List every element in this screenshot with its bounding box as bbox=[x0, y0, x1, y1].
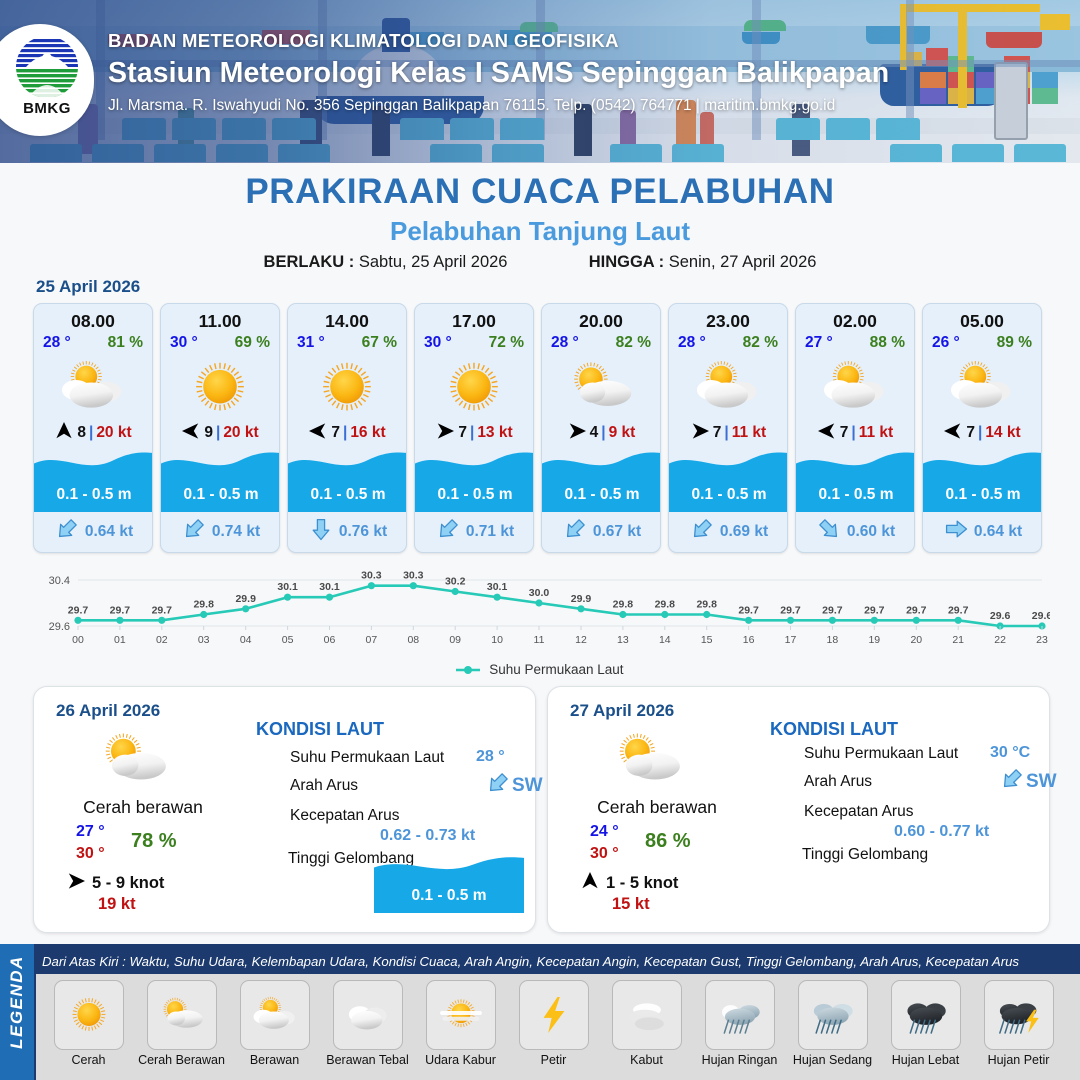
card-wind-speed: 7 bbox=[331, 424, 340, 442]
card-wave-graphic: 0.1 - 0.5 m bbox=[288, 450, 407, 512]
sea-conditions-title: KONDISI LAUT bbox=[770, 719, 898, 740]
legend-item-label: Kabut bbox=[630, 1054, 663, 1068]
svg-text:22: 22 bbox=[994, 634, 1006, 646]
card-current: 0.74 kt bbox=[161, 517, 280, 546]
card-time: 08.00 bbox=[34, 311, 152, 332]
svg-text:29.7: 29.7 bbox=[906, 604, 927, 616]
station-name: Stasiun Meteorologi Kelas I SAMS Sepingg… bbox=[108, 57, 889, 90]
wave-label: Tinggi Gelombang bbox=[802, 846, 928, 864]
card-gust: 11 kt bbox=[859, 424, 893, 442]
svg-text:29.7: 29.7 bbox=[864, 604, 885, 616]
day-date: 27 April 2026 bbox=[570, 701, 674, 721]
sun-cloud-icon bbox=[147, 980, 217, 1050]
sun-cloud-icon bbox=[86, 729, 182, 791]
current-dir-label: Arah Arus bbox=[290, 777, 358, 795]
validity-row: BERLAKU : Sabtu, 25 April 2026 HINGGA : … bbox=[0, 253, 1080, 272]
svg-text:04: 04 bbox=[240, 634, 252, 646]
day-wind-range: 1 - 5 knot bbox=[606, 874, 678, 893]
card-humidity: 67 % bbox=[362, 334, 397, 352]
legend-item-label: Hujan Petir bbox=[988, 1054, 1050, 1068]
svg-text:05: 05 bbox=[282, 634, 294, 646]
card-time: 17.00 bbox=[415, 311, 533, 332]
card-wave-graphic: 0.1 - 0.5 m bbox=[796, 450, 915, 512]
current-speed-value: 0.62 - 0.73 kt bbox=[380, 827, 475, 845]
legend-item: Berawan bbox=[228, 980, 321, 1080]
current-direction-arrow-icon bbox=[309, 517, 333, 546]
card-wind: 4 | 9 kt bbox=[542, 420, 660, 446]
card-temperature: 27 ° bbox=[805, 334, 833, 352]
moderate-rain-icon bbox=[798, 980, 868, 1050]
valid-until-label: HINGGA : bbox=[589, 253, 664, 271]
legend-item-label: Berawan Tebal bbox=[326, 1054, 408, 1068]
card-wind-separator: | bbox=[724, 424, 728, 442]
valid-from-label: BERLAKU : bbox=[264, 253, 355, 271]
legend-item: Hujan Petir bbox=[972, 980, 1065, 1080]
current-direction-arrow-icon bbox=[944, 517, 968, 546]
card-wind-speed: 7 bbox=[966, 424, 975, 442]
legend-item-label: Berawan bbox=[250, 1054, 299, 1068]
card-wind-speed: 7 bbox=[840, 424, 849, 442]
svg-text:17: 17 bbox=[785, 634, 797, 646]
current-dir-value: SW bbox=[1026, 771, 1057, 793]
svg-text:06: 06 bbox=[324, 634, 336, 646]
card-wind-speed: 4 bbox=[590, 424, 599, 442]
card-current: 0.64 kt bbox=[34, 517, 153, 546]
card-wind-speed: 7 bbox=[713, 424, 722, 442]
day-humidity: 86 % bbox=[645, 830, 691, 853]
valid-until-value: Senin, 27 April 2026 bbox=[669, 253, 817, 271]
svg-text:29.9: 29.9 bbox=[235, 593, 256, 605]
svg-text:23: 23 bbox=[1036, 634, 1048, 646]
card-time: 14.00 bbox=[288, 311, 406, 332]
current-direction-arrow-icon bbox=[486, 771, 510, 800]
sea-conditions-title: KONDISI LAUT bbox=[256, 719, 384, 740]
card-humidity: 82 % bbox=[743, 334, 778, 352]
sunny-icon bbox=[161, 354, 279, 420]
card-wind: 7 | 13 kt bbox=[415, 420, 533, 446]
heavy-rain-icon bbox=[891, 980, 961, 1050]
hourly-card: 05.00 26 ° 89 % 7 | 14 kt 0.1 - 0.5 m bbox=[922, 303, 1042, 553]
card-current-speed: 0.71 kt bbox=[466, 523, 514, 541]
card-wave-height: 0.1 - 0.5 m bbox=[796, 486, 915, 504]
sst-chart: 30.4 29.6 29.729.729.729.829.930.130.130… bbox=[30, 558, 1050, 648]
card-gust: 14 kt bbox=[985, 424, 1020, 442]
legend-sidebar: LEGENDA bbox=[0, 944, 34, 1080]
day-gust: 15 kt bbox=[612, 895, 650, 914]
card-wave-height: 0.1 - 0.5 m bbox=[542, 486, 661, 504]
card-gust: 13 kt bbox=[477, 424, 512, 442]
legend-item-label: Hujan Sedang bbox=[793, 1054, 872, 1068]
light-rain-icon bbox=[705, 980, 775, 1050]
legend-section: LEGENDA Dari Atas Kiri : Waktu, Suhu Uda… bbox=[0, 944, 1080, 1080]
svg-text:29.7: 29.7 bbox=[738, 604, 759, 616]
hourly-card: 20.00 28 ° 82 % 4 | 9 kt 0.1 - 0.5 m bbox=[541, 303, 661, 553]
svg-text:30.1: 30.1 bbox=[277, 581, 298, 593]
svg-text:30.4: 30.4 bbox=[49, 575, 70, 587]
svg-text:21: 21 bbox=[952, 634, 964, 646]
card-humidity: 81 % bbox=[108, 334, 143, 352]
day-panel-27: 27 April 2026 Cerah berawan 24 ° 30 ° 86… bbox=[547, 686, 1050, 933]
card-time: 23.00 bbox=[669, 311, 787, 332]
svg-text:29.7: 29.7 bbox=[780, 604, 801, 616]
hourly-date-label: 25 April 2026 bbox=[36, 277, 140, 297]
card-wave-graphic: 0.1 - 0.5 m bbox=[669, 450, 788, 512]
card-current: 0.67 kt bbox=[542, 517, 661, 546]
sst-line-chart: 30.4 29.6 29.729.729.729.829.930.130.130… bbox=[30, 558, 1050, 648]
svg-text:08: 08 bbox=[407, 634, 419, 646]
card-temp-humidity: 27 ° 88 % bbox=[796, 332, 914, 352]
card-gust: 20 kt bbox=[96, 424, 131, 442]
sst-label: Suhu Permukaan Laut bbox=[290, 749, 444, 767]
current-speed-label: Kecepatan Arus bbox=[804, 803, 913, 821]
svg-text:10: 10 bbox=[491, 634, 503, 646]
legend-item: Hujan Lebat bbox=[879, 980, 972, 1080]
card-temp-humidity: 28 ° 82 % bbox=[542, 332, 660, 352]
legend-item: Kabut bbox=[600, 980, 693, 1080]
card-time: 05.00 bbox=[923, 311, 1041, 332]
svg-text:09: 09 bbox=[449, 634, 461, 646]
sun-cloud-icon bbox=[542, 354, 660, 420]
card-wind-separator: | bbox=[978, 424, 982, 442]
day-condition: Cerah berawan bbox=[48, 797, 238, 818]
svg-text:12: 12 bbox=[575, 634, 587, 646]
card-current-speed: 0.69 kt bbox=[720, 523, 768, 541]
legend-item-label: Cerah bbox=[71, 1054, 105, 1068]
svg-text:13: 13 bbox=[617, 634, 629, 646]
svg-text:01: 01 bbox=[114, 634, 126, 646]
current-direction-arrow-icon bbox=[817, 517, 841, 546]
card-wind: 7 | 14 kt bbox=[923, 420, 1041, 446]
svg-text:15: 15 bbox=[701, 634, 713, 646]
wind-direction-arrow-icon bbox=[308, 421, 328, 446]
card-wind-separator: | bbox=[601, 424, 605, 442]
sst-label: Suhu Permukaan Laut bbox=[804, 745, 958, 763]
card-temperature: 30 ° bbox=[170, 334, 198, 352]
legend-item: Berawan Tebal bbox=[321, 980, 414, 1080]
hourly-card: 02.00 27 ° 88 % 7 | 11 kt 0.1 - 0.5 m bbox=[795, 303, 915, 553]
card-temperature: 30 ° bbox=[424, 334, 452, 352]
svg-text:29.6: 29.6 bbox=[990, 610, 1011, 622]
page-subtitle: Pelabuhan Tanjung Laut bbox=[0, 216, 1080, 247]
svg-text:18: 18 bbox=[827, 634, 839, 646]
sunny-icon bbox=[288, 354, 406, 420]
wind-direction-arrow-icon bbox=[66, 871, 86, 896]
day-wind-range: 5 - 9 knot bbox=[92, 874, 164, 893]
legend-item-label: Hujan Lebat bbox=[892, 1054, 959, 1068]
legend-item-label: Udara Kabur bbox=[425, 1054, 496, 1068]
card-current: 0.76 kt bbox=[288, 517, 407, 546]
current-dir-label: Arah Arus bbox=[804, 773, 872, 791]
svg-text:30.3: 30.3 bbox=[361, 570, 382, 582]
svg-text:03: 03 bbox=[198, 634, 210, 646]
sst-value: 28 ° bbox=[476, 748, 505, 766]
card-wind-separator: | bbox=[343, 424, 347, 442]
card-humidity: 69 % bbox=[235, 334, 270, 352]
hourly-forecast-row: 08.00 28 ° 81 % 8 | 20 kt 0.1 - 0.5 m bbox=[33, 303, 1047, 553]
partly-cloudy-icon bbox=[34, 354, 152, 420]
card-current-speed: 0.74 kt bbox=[212, 523, 260, 541]
hourly-card: 14.00 31 ° 67 % 7 | 16 kt 0.1 - 0.5 m bbox=[287, 303, 407, 553]
svg-text:16: 16 bbox=[743, 634, 755, 646]
current-direction-arrow-icon bbox=[55, 517, 79, 546]
card-humidity: 82 % bbox=[616, 334, 651, 352]
sunny-icon bbox=[415, 354, 533, 420]
header-text-block: BADAN METEOROLOGI KLIMATOLOGI DAN GEOFIS… bbox=[108, 30, 889, 115]
card-humidity: 72 % bbox=[489, 334, 524, 352]
svg-text:29.8: 29.8 bbox=[193, 599, 214, 611]
svg-text:29.7: 29.7 bbox=[68, 604, 89, 616]
lightning-icon bbox=[519, 980, 589, 1050]
card-wave-height: 0.1 - 0.5 m bbox=[415, 486, 534, 504]
partly-cloudy-icon bbox=[240, 980, 310, 1050]
card-wave-graphic: 0.1 - 0.5 m bbox=[415, 450, 534, 512]
card-current-speed: 0.76 kt bbox=[339, 523, 387, 541]
card-wind-speed: 8 bbox=[77, 424, 86, 442]
day-temp-low: 27 ° bbox=[76, 823, 105, 841]
card-wave-height: 0.1 - 0.5 m bbox=[923, 486, 1042, 504]
day-temp-high: 30 ° bbox=[76, 845, 105, 863]
card-wind-speed: 7 bbox=[458, 424, 467, 442]
svg-text:29.9: 29.9 bbox=[571, 593, 592, 605]
day-humidity: 78 % bbox=[131, 830, 177, 853]
card-temp-humidity: 26 ° 89 % bbox=[923, 332, 1041, 352]
svg-text:02: 02 bbox=[156, 634, 168, 646]
station-address: Jl. Marsma. R. Iswahyudi No. 356 Sepingg… bbox=[108, 97, 889, 115]
svg-text:29.8: 29.8 bbox=[613, 599, 634, 611]
card-wave-graphic: 0.1 - 0.5 m bbox=[34, 450, 153, 512]
card-humidity: 88 % bbox=[870, 334, 905, 352]
haze-icon bbox=[426, 980, 496, 1050]
chart-legend-label: Suhu Permukaan Laut bbox=[489, 662, 623, 677]
card-wind-separator: | bbox=[89, 424, 93, 442]
legend-item: Cerah Berawan bbox=[135, 980, 228, 1080]
svg-text:19: 19 bbox=[868, 634, 880, 646]
card-temperature: 26 ° bbox=[932, 334, 960, 352]
card-temperature: 28 ° bbox=[43, 334, 71, 352]
svg-text:00: 00 bbox=[72, 634, 84, 646]
fog-icon bbox=[612, 980, 682, 1050]
card-wave-graphic: 0.1 - 0.5 m bbox=[923, 450, 1042, 512]
day-date: 26 April 2026 bbox=[56, 701, 160, 721]
card-current: 0.60 kt bbox=[796, 517, 915, 546]
page-title: PRAKIRAAN CUACA PELABUHAN bbox=[0, 172, 1080, 212]
chart-legend-marker bbox=[456, 663, 480, 678]
svg-text:11: 11 bbox=[534, 634, 545, 646]
card-current-speed: 0.64 kt bbox=[85, 523, 133, 541]
partly-cloudy-icon bbox=[669, 354, 787, 420]
card-current-speed: 0.60 kt bbox=[847, 523, 895, 541]
svg-text:29.7: 29.7 bbox=[110, 604, 131, 616]
card-current: 0.71 kt bbox=[415, 517, 534, 546]
card-wind-speed: 9 bbox=[204, 424, 213, 442]
day-temp-low: 24 ° bbox=[590, 823, 619, 841]
card-time: 02.00 bbox=[796, 311, 914, 332]
card-gust: 16 kt bbox=[350, 424, 385, 442]
card-time: 11.00 bbox=[161, 311, 279, 332]
wind-direction-arrow-icon bbox=[690, 421, 710, 446]
page-header: BMKG BADAN METEOROLOGI KLIMATOLOGI DAN G… bbox=[0, 0, 1080, 163]
card-time: 20.00 bbox=[542, 311, 660, 332]
card-humidity: 89 % bbox=[997, 334, 1032, 352]
card-temperature: 28 ° bbox=[678, 334, 706, 352]
legend-item: Hujan Ringan bbox=[693, 980, 786, 1080]
day-temp-high: 30 ° bbox=[590, 845, 619, 863]
legend-item: Udara Kabur bbox=[414, 980, 507, 1080]
sunny-icon bbox=[54, 980, 124, 1050]
day-panel-26: 26 April 2026 Cerah berawan 27 ° 30 ° 78… bbox=[33, 686, 536, 933]
day-gust: 19 kt bbox=[98, 895, 136, 914]
card-wind-separator: | bbox=[470, 424, 474, 442]
card-temp-humidity: 30 ° 72 % bbox=[415, 332, 533, 352]
wind-direction-arrow-icon bbox=[435, 421, 455, 446]
card-temp-humidity: 30 ° 69 % bbox=[161, 332, 279, 352]
org-name: BADAN METEOROLOGI KLIMATOLOGI DAN GEOFIS… bbox=[108, 30, 889, 52]
wind-direction-arrow-icon bbox=[54, 421, 74, 446]
card-wave-height: 0.1 - 0.5 m bbox=[161, 486, 280, 504]
legend-item-label: Hujan Ringan bbox=[702, 1054, 778, 1068]
current-direction-arrow-icon bbox=[690, 517, 714, 546]
svg-text:30.3: 30.3 bbox=[403, 570, 424, 582]
hourly-card: 23.00 28 ° 82 % 7 | 11 kt 0.1 - 0.5 m bbox=[668, 303, 788, 553]
day-condition: Cerah berawan bbox=[562, 797, 752, 818]
legend-items-strip: Cerah Cerah Berawan Berawan bbox=[36, 974, 1080, 1080]
svg-text:29.6: 29.6 bbox=[1032, 610, 1050, 622]
card-current: 0.69 kt bbox=[669, 517, 788, 546]
current-direction-arrow-icon bbox=[436, 517, 460, 546]
card-gust: 9 kt bbox=[609, 424, 636, 442]
svg-text:29.8: 29.8 bbox=[696, 599, 717, 611]
card-temp-humidity: 28 ° 82 % bbox=[669, 332, 787, 352]
card-wind: 7 | 16 kt bbox=[288, 420, 406, 446]
card-temp-humidity: 31 ° 67 % bbox=[288, 332, 406, 352]
svg-text:14: 14 bbox=[659, 634, 671, 646]
bmkg-logo-icon bbox=[14, 34, 80, 100]
current-direction-arrow-icon bbox=[1000, 767, 1024, 796]
card-wave-height: 0.1 - 0.5 m bbox=[669, 486, 788, 504]
card-current-speed: 0.67 kt bbox=[593, 523, 641, 541]
card-gust: 11 kt bbox=[732, 424, 766, 442]
svg-text:30.2: 30.2 bbox=[445, 576, 466, 588]
wind-direction-arrow-icon bbox=[580, 871, 600, 896]
chart-legend: Suhu Permukaan Laut bbox=[0, 662, 1080, 678]
card-temperature: 31 ° bbox=[297, 334, 325, 352]
svg-text:30.1: 30.1 bbox=[487, 581, 508, 593]
hourly-card: 17.00 30 ° 72 % 7 | 13 kt 0.1 - 0.5 m bbox=[414, 303, 534, 553]
legend-item: Hujan Sedang bbox=[786, 980, 879, 1080]
wind-direction-arrow-icon bbox=[943, 421, 963, 446]
day-wind: 1 - 5 knot bbox=[580, 871, 678, 896]
svg-text:29.7: 29.7 bbox=[822, 604, 843, 616]
current-direction-arrow-icon bbox=[563, 517, 587, 546]
card-wind: 7 | 11 kt bbox=[669, 420, 787, 446]
svg-text:29.7: 29.7 bbox=[948, 604, 969, 616]
card-wind: 8 | 20 kt bbox=[34, 420, 152, 446]
valid-from-value: Sabtu, 25 April 2026 bbox=[359, 253, 508, 271]
card-wind: 7 | 11 kt bbox=[796, 420, 914, 446]
legend-sidebar-label: LEGENDA bbox=[7, 952, 27, 1052]
svg-text:30.1: 30.1 bbox=[319, 581, 340, 593]
card-wave-graphic: 0.1 - 0.5 m bbox=[542, 450, 661, 512]
hourly-card: 08.00 28 ° 81 % 8 | 20 kt 0.1 - 0.5 m bbox=[33, 303, 153, 553]
current-speed-value: 0.60 - 0.77 kt bbox=[894, 823, 989, 841]
legend-item-label: Petir bbox=[541, 1054, 567, 1068]
card-wave-height: 0.1 - 0.5 m bbox=[288, 486, 407, 504]
cloudy-icon bbox=[333, 980, 403, 1050]
svg-text:20: 20 bbox=[910, 634, 922, 646]
legend-item: Cerah bbox=[42, 980, 135, 1080]
card-temp-humidity: 28 ° 81 % bbox=[34, 332, 152, 352]
svg-text:29.8: 29.8 bbox=[655, 599, 676, 611]
card-wave-height: 0.1 - 0.5 m bbox=[34, 486, 153, 504]
current-dir-value-group: SW bbox=[486, 771, 543, 800]
card-wind: 9 | 20 kt bbox=[161, 420, 279, 446]
card-current-speed: 0.64 kt bbox=[974, 523, 1022, 541]
day-wave-value: 0.1 - 0.5 m bbox=[374, 887, 524, 905]
partly-cloudy-icon bbox=[796, 354, 914, 420]
current-direction-arrow-icon bbox=[182, 517, 206, 546]
svg-text:07: 07 bbox=[366, 634, 378, 646]
thunderstorm-icon bbox=[984, 980, 1054, 1050]
current-speed-label: Kecepatan Arus bbox=[290, 807, 399, 825]
wind-direction-arrow-icon bbox=[181, 421, 201, 446]
sst-value: 30 °C bbox=[990, 744, 1030, 762]
sun-cloud-icon bbox=[600, 729, 696, 791]
bmkg-logo-text: BMKG bbox=[14, 100, 80, 117]
legend-item-label: Cerah Berawan bbox=[138, 1054, 225, 1068]
wind-direction-arrow-icon bbox=[567, 421, 587, 446]
svg-text:29.6: 29.6 bbox=[49, 621, 70, 633]
hourly-card: 11.00 30 ° 69 % 9 | 20 kt 0.1 - 0.5 m bbox=[160, 303, 280, 553]
day-wind: 5 - 9 knot bbox=[66, 871, 164, 896]
wind-direction-arrow-icon bbox=[817, 421, 837, 446]
current-dir-value: SW bbox=[512, 775, 543, 797]
current-dir-value-group: SW bbox=[1000, 767, 1057, 796]
legend-item: Petir bbox=[507, 980, 600, 1080]
svg-text:29.7: 29.7 bbox=[152, 604, 173, 616]
day-wave-graphic: 0.1 - 0.5 m bbox=[374, 855, 524, 913]
card-gust: 20 kt bbox=[223, 424, 258, 442]
card-wind-separator: | bbox=[851, 424, 855, 442]
card-current: 0.64 kt bbox=[923, 517, 1042, 546]
svg-text:30.0: 30.0 bbox=[529, 587, 550, 599]
partly-cloudy-icon bbox=[923, 354, 1041, 420]
card-temperature: 28 ° bbox=[551, 334, 579, 352]
card-wind-separator: | bbox=[216, 424, 220, 442]
card-wave-graphic: 0.1 - 0.5 m bbox=[161, 450, 280, 512]
legend-note: Dari Atas Kiri : Waktu, Suhu Udara, Kele… bbox=[42, 954, 1019, 969]
